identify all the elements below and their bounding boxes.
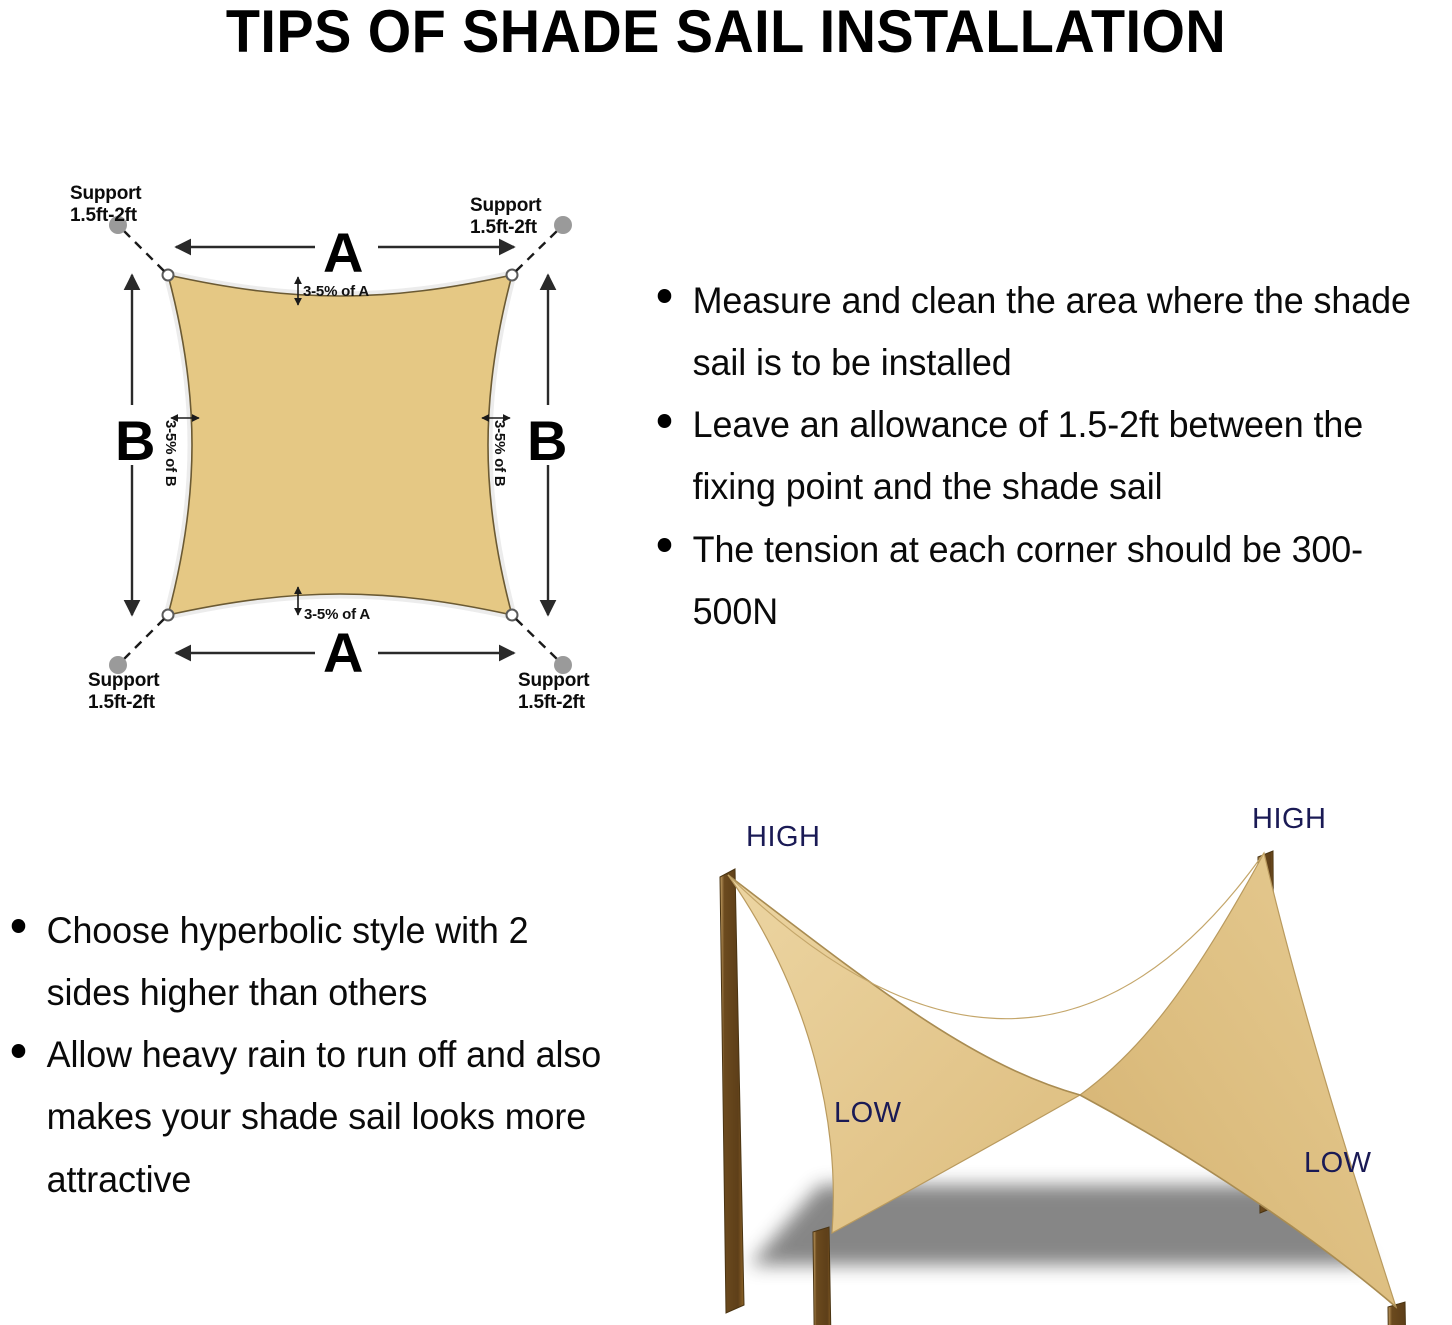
label-low-left: LOW <box>834 1097 902 1130</box>
label-low-right: LOW <box>1304 1147 1372 1180</box>
support-label-line1: Support <box>518 670 589 692</box>
installation-tips-list-left: Choose hyperbolic style with 2 sides hig… <box>2 900 622 1211</box>
bullet-dot-icon <box>658 414 672 428</box>
bullet-dot-icon <box>12 919 26 933</box>
dimension-letter-a-bottom: A <box>323 625 363 681</box>
curvature-note-top: 3-5% of A <box>303 283 369 300</box>
list-item: Measure and clean the area where the sha… <box>648 270 1430 394</box>
list-item-text: Leave an allowance of 1.5-2ft between th… <box>693 404 1363 507</box>
tether-bottom-left <box>122 619 164 661</box>
grommet-top-right <box>507 270 518 281</box>
installation-tips-list-right: Measure and clean the area where the sha… <box>648 270 1452 643</box>
support-label-top-right: Support 1.5ft-2ft <box>470 195 541 239</box>
curvature-note-right: 3-5% of B <box>491 420 508 487</box>
hyperbolic-sail-drawing <box>672 795 1452 1325</box>
list-item: Choose hyperbolic style with 2 sides hig… <box>2 900 603 1024</box>
post-low-left <box>813 1227 832 1325</box>
support-label-line1: Support <box>70 183 141 205</box>
grommet-top-left <box>163 270 174 281</box>
list-item-text: The tension at each corner should be 300… <box>693 529 1363 632</box>
list-item: Allow heavy rain to run off and also mak… <box>2 1024 603 1210</box>
list-item-text: Choose hyperbolic style with 2 sides hig… <box>47 910 529 1013</box>
support-dot-top-right <box>554 216 572 234</box>
label-high-left: HIGH <box>746 821 821 854</box>
support-label-line1: Support <box>470 195 541 217</box>
dimension-letter-b-left: B <box>115 413 155 469</box>
curvature-note-left: 3-5% of B <box>162 420 179 487</box>
support-label-top-left: Support 1.5ft-2ft <box>70 183 141 227</box>
curvature-note-bottom: 3-5% of A <box>304 606 370 623</box>
post-low-right <box>1388 1302 1410 1325</box>
grommet-bottom-left <box>163 610 174 621</box>
support-label-bottom-right: Support 1.5ft-2ft <box>518 670 589 714</box>
label-high-right: HIGH <box>1252 803 1327 836</box>
tether-bottom-right <box>516 619 559 661</box>
bullet-dot-icon <box>658 538 672 552</box>
tether-top-left <box>122 229 164 271</box>
support-label-line2: 1.5ft-2ft <box>88 692 159 714</box>
support-label-line2: 1.5ft-2ft <box>470 217 541 239</box>
list-item: Leave an allowance of 1.5-2ft between th… <box>648 394 1430 518</box>
sail-body <box>168 275 512 615</box>
square-sail-diagram: Support 1.5ft-2ft Support 1.5ft-2ft Supp… <box>40 165 640 735</box>
sail-lobe-left <box>728 875 1080 1233</box>
support-label-line2: 1.5ft-2ft <box>70 205 141 227</box>
dimension-letter-a-top: A <box>323 225 363 281</box>
support-label-line2: 1.5ft-2ft <box>518 692 589 714</box>
support-label-line1: Support <box>88 670 159 692</box>
list-item-text: Measure and clean the area where the sha… <box>693 280 1411 383</box>
list-item-text: Allow heavy rain to run off and also mak… <box>47 1034 601 1199</box>
list-item: The tension at each corner should be 300… <box>648 519 1430 643</box>
infographic-page: TIPS OF SHADE SAIL INSTALLATION <box>0 0 1452 1325</box>
post-high-left <box>720 869 744 1313</box>
grommet-bottom-right <box>507 610 518 621</box>
support-label-bottom-left: Support 1.5ft-2ft <box>88 670 159 714</box>
page-title: TIPS OF SHADE SAIL INSTALLATION <box>51 2 1401 62</box>
bullet-dot-icon <box>658 289 672 303</box>
dimension-letter-b-right: B <box>527 413 567 469</box>
bullet-dot-icon <box>12 1044 26 1058</box>
hyperbolic-sail-diagram: HIGH HIGH LOW LOW <box>672 795 1452 1325</box>
